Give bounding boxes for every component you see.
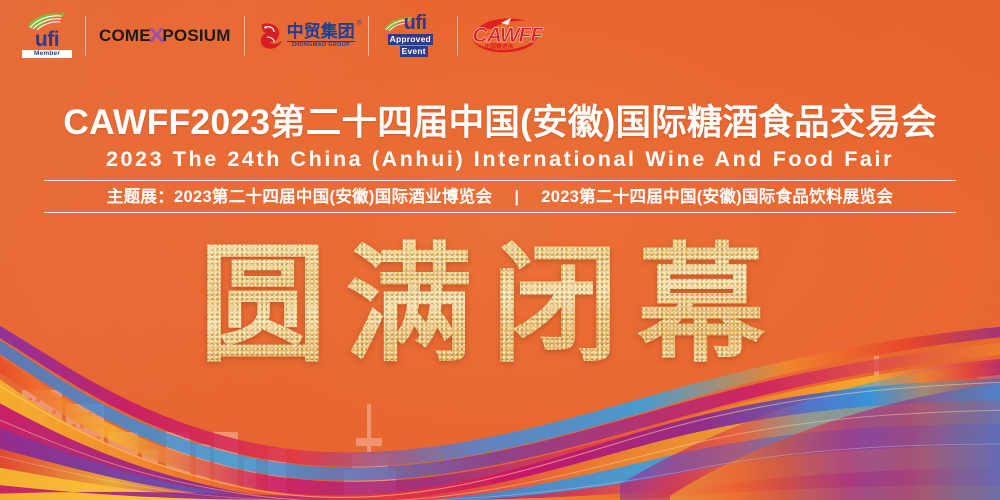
comexposium-x-icon: X bbox=[148, 25, 165, 48]
zhongmao-wordmark-cn: 中贸集团 bbox=[287, 23, 355, 40]
ufi-member-label: Member bbox=[22, 50, 72, 58]
logo-separator bbox=[244, 16, 245, 56]
theme-item-food: 2023第二十四届中国(安徽)国际食品饮料展览会 bbox=[541, 188, 893, 206]
ufi-approved-line2: Event bbox=[400, 46, 428, 57]
logo-separator bbox=[457, 16, 458, 56]
logo-cawff[interactable]: CAWFF 中国糖酒会 bbox=[471, 9, 539, 63]
event-title-en: 2023 The 24th China (Anhui) Internationa… bbox=[0, 146, 1000, 172]
dragon-icon bbox=[258, 21, 284, 51]
logo-ufi-approved-event[interactable]: ufi Approved Event bbox=[382, 9, 444, 63]
event-banner: ufi Member COME X POSIUM bbox=[0, 0, 1000, 500]
comexposium-text-right: POSIUM bbox=[162, 26, 230, 46]
registered-mark-icon: ® bbox=[357, 21, 361, 27]
theme-divider: | bbox=[514, 188, 519, 206]
logo-comexposium[interactable]: COME X POSIUM bbox=[99, 9, 231, 63]
cawff-wordmark: CAWFF bbox=[473, 25, 543, 46]
comexposium-text-left: COME bbox=[99, 26, 151, 46]
logo-separator bbox=[85, 16, 86, 56]
cawff-wordmark-cn: 中国糖酒会 bbox=[485, 44, 514, 51]
closing-headline: 圆满闭幕 bbox=[0, 236, 1000, 376]
logo-ufi-member[interactable]: ufi Member bbox=[22, 9, 72, 63]
ufi-approved-wordmark: ufi bbox=[404, 13, 427, 33]
theme-exhibition-band: 主题展： 2023第二十四届中国(安徽)国际酒业博览会 | 2023第二十四届中… bbox=[44, 180, 956, 213]
ufi-approved-line1: Approved bbox=[388, 34, 433, 45]
sponsor-logo-bar: ufi Member COME X POSIUM bbox=[22, 9, 539, 63]
logo-separator bbox=[368, 16, 369, 56]
zhongmao-wordmark-en: ZHONGMAO GROUP bbox=[287, 41, 355, 49]
closing-headline-text: 圆满闭幕 bbox=[199, 236, 801, 376]
event-title-cn: CAWFF2023第二十四届中国(安徽)国际糖酒食品交易会 bbox=[0, 101, 1000, 143]
logo-zhongmao-group[interactable]: ® 中贸集团 ZHONGMAO GROUP bbox=[258, 9, 355, 63]
theme-item-wine: 2023第二十四届中国(安徽)国际酒业博览会 bbox=[174, 188, 492, 206]
ufi-wordmark: ufi bbox=[22, 30, 72, 50]
theme-label: 主题展： bbox=[107, 188, 174, 206]
